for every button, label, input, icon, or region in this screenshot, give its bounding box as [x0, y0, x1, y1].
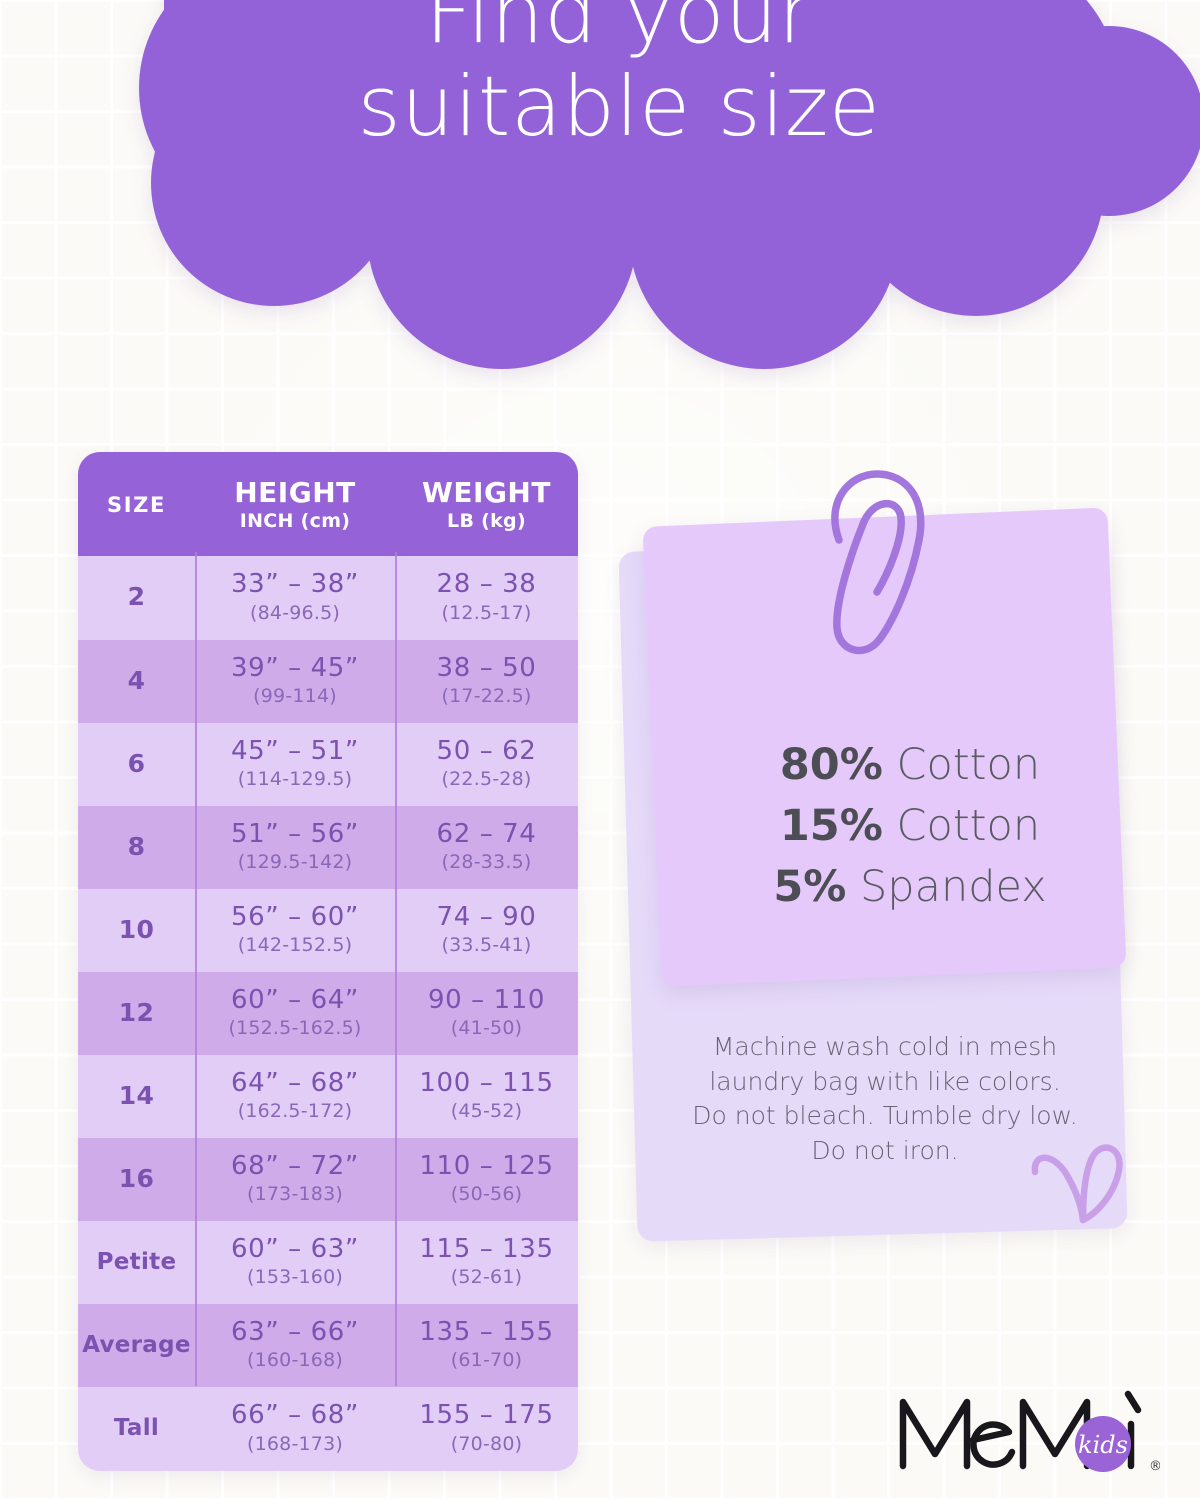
cell-size: 10	[78, 889, 195, 972]
registered-mark: ®	[1149, 1459, 1160, 1474]
cell-weight: 115 – 135 (52-61)	[395, 1221, 578, 1304]
cell-size: 16	[78, 1138, 195, 1221]
composition-percent: 80%	[780, 740, 883, 790]
brand-logo: kids ®	[895, 1378, 1160, 1488]
cell-size: Average	[78, 1304, 195, 1387]
cell-height: 63” – 66” (160-168)	[195, 1304, 395, 1387]
cell-size: 4	[78, 640, 195, 723]
fabric-care-notes-panel: 80% Cotton 15% Cotton 5% Spandex Machine…	[620, 470, 1150, 1270]
composition-line: 15% Cotton	[710, 796, 1110, 857]
care-line: Do not bleach. Tumble dry low.	[660, 1099, 1110, 1134]
cell-weight: 90 – 110 (41-50)	[395, 972, 578, 1055]
cell-weight: 50 – 62 (22.5-28)	[395, 723, 578, 806]
cell-weight: 74 – 90 (33.5-41)	[395, 889, 578, 972]
cell-size: 6	[78, 723, 195, 806]
cell-height: 60” – 64” (152.5-162.5)	[195, 972, 395, 1055]
cell-height: 39” – 45” (99-114)	[195, 640, 395, 723]
kids-badge-label: kids	[1078, 1431, 1128, 1459]
composition-material: Cotton	[896, 801, 1040, 851]
table-row: 10 56” – 60” (142-152.5) 74 – 90 (33.5-4…	[78, 889, 578, 972]
cell-size: 2	[78, 556, 195, 639]
table-header-row: SIZE HEIGHT INCH (cm) WEIGHT LB (kg)	[78, 452, 578, 556]
fabric-composition: 80% Cotton 15% Cotton 5% Spandex	[710, 735, 1110, 918]
column-header-weight: WEIGHT LB (kg)	[395, 452, 578, 556]
composition-line: 80% Cotton	[710, 735, 1110, 796]
column-header-height: HEIGHT INCH (cm)	[195, 452, 395, 556]
cell-weight: 62 – 74 (28-33.5)	[395, 806, 578, 889]
care-line: laundry bag with like colors.	[660, 1065, 1110, 1100]
cell-size: 8	[78, 806, 195, 889]
cell-size: Tall	[78, 1387, 195, 1470]
cell-height: 51” – 56” (129.5-142)	[195, 806, 395, 889]
cell-size: 14	[78, 1055, 195, 1138]
cell-weight: 155 – 175 (70-80)	[395, 1387, 578, 1470]
cloud-header-shape: Find your suitable size	[104, 0, 1134, 408]
table-row: 12 60” – 64” (152.5-162.5) 90 – 110 (41-…	[78, 972, 578, 1055]
cell-height: 64” – 68” (162.5-172)	[195, 1055, 395, 1138]
cell-weight: 135 – 155 (61-70)	[395, 1304, 578, 1387]
table-row: 6 45” – 51” (114-129.5) 50 – 62 (22.5-28…	[78, 723, 578, 806]
composition-material: Cotton	[896, 740, 1040, 790]
cell-height: 68” – 72” (173-183)	[195, 1138, 395, 1221]
table-row: Petite 60” – 63” (153-160) 115 – 135 (52…	[78, 1221, 578, 1304]
composition-percent: 15%	[780, 801, 883, 851]
cell-height: 33” – 38” (84-96.5)	[195, 556, 395, 639]
paperclip-icon	[815, 462, 955, 672]
cell-weight: 100 – 115 (45-52)	[395, 1055, 578, 1138]
size-chart-table: SIZE HEIGHT INCH (cm) WEIGHT LB (kg) 2 3…	[78, 452, 578, 1471]
cell-weight: 28 – 38 (12.5-17)	[395, 556, 578, 639]
table-row: 2 33” – 38” (84-96.5) 28 – 38 (12.5-17)	[78, 556, 578, 639]
table-row: 14 64” – 68” (162.5-172) 100 – 115 (45-5…	[78, 1055, 578, 1138]
cell-height: 56” – 60” (142-152.5)	[195, 889, 395, 972]
cell-weight: 38 – 50 (17-22.5)	[395, 640, 578, 723]
table-row: Tall 66” – 68” (168-173) 155 – 175 (70-8…	[78, 1387, 578, 1470]
table-row: Average 63” – 66” (160-168) 135 – 155 (6…	[78, 1304, 578, 1387]
composition-line: 5% Spandex	[710, 857, 1110, 918]
care-line: Machine wash cold in mesh	[660, 1030, 1110, 1065]
table-row: 16 68” – 72” (173-183) 110 – 125 (50-56)	[78, 1138, 578, 1221]
composition-material: Spandex	[860, 862, 1047, 912]
cell-size: Petite	[78, 1221, 195, 1304]
cell-height: 60” – 63” (153-160)	[195, 1221, 395, 1304]
table-row: 4 39” – 45” (99-114) 38 – 50 (17-22.5)	[78, 640, 578, 723]
composition-percent: 5%	[773, 862, 846, 912]
cell-size: 12	[78, 972, 195, 1055]
cell-height: 45” – 51” (114-129.5)	[195, 723, 395, 806]
column-header-size: SIZE	[78, 452, 195, 556]
cell-height: 66” – 68” (168-173)	[195, 1387, 395, 1470]
cell-weight: 110 – 125 (50-56)	[395, 1138, 578, 1221]
heart-icon	[1025, 1142, 1135, 1242]
table-row: 8 51” – 56” (129.5-142) 62 – 74 (28-33.5…	[78, 806, 578, 889]
